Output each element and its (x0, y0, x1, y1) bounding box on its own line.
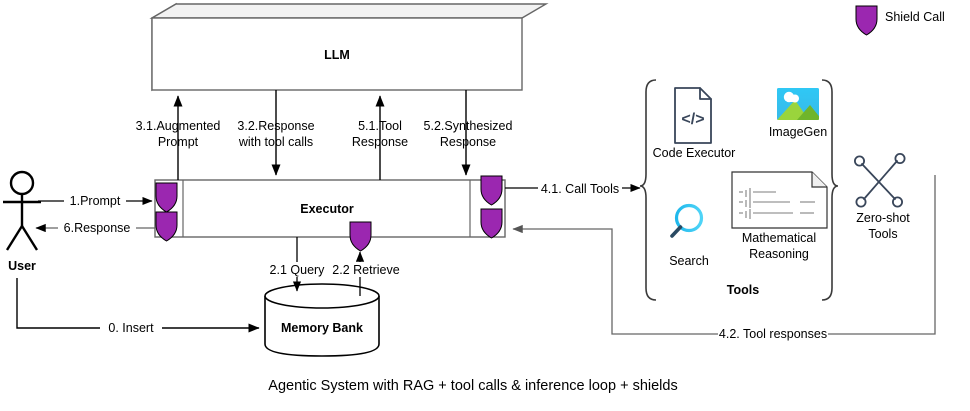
edge-label-prompt: 1.Prompt (70, 194, 121, 208)
tool-label-zero-shot-1: Zero-shot (856, 211, 910, 225)
tool-label-search: Search (669, 254, 709, 268)
edge-label-augmented-prompt-1: 3.1.Augmented (136, 119, 221, 133)
legend-label: Shield Call (885, 10, 945, 24)
diagram-caption: Agentic System with RAG + tool calls & i… (268, 378, 677, 394)
tool-search[interactable]: Search (669, 206, 709, 269)
llm-node[interactable]: LLM (152, 4, 546, 90)
edge-synthesized-response: 5.2.Synthesized Response (424, 90, 513, 175)
executor-node[interactable]: Executor (155, 180, 505, 237)
edge-label-response-tool-calls-1: 3.2.Response (237, 119, 314, 133)
diagram-canvas: LLM Executor Memory Bank User (0, 0, 970, 411)
edge-label-tool-response-2: Response (352, 135, 408, 149)
edge-label-response-tool-calls-2: with tool calls (238, 135, 313, 149)
llm-label: LLM (324, 48, 350, 62)
edge-tool-response: 5.1.Tool Response (352, 96, 408, 180)
edge-tool-responses: 4.2. Tool responses (513, 175, 935, 342)
executor-label: Executor (300, 202, 354, 216)
edge-insert: 0. Insert (17, 278, 259, 336)
tool-imagegen[interactable]: ImageGen (769, 88, 827, 139)
tool-label-zero-shot-2: Tools (868, 227, 897, 241)
edge-label-response: 6.Response (64, 221, 131, 235)
memory-bank-node[interactable]: Memory Bank (265, 284, 379, 356)
crossed-wrenches-icon (855, 154, 905, 207)
edge-label-synthesized-2: Response (440, 135, 496, 149)
tool-zero-shot-tools[interactable]: Zero-shot Tools (855, 154, 910, 241)
edge-label-tool-response-1: 5.1.Tool (358, 119, 402, 133)
edge-label-retrieve: 2.2 Retrieve (332, 263, 399, 277)
edge-query: 2.1 Query (268, 237, 326, 291)
edge-call-tools: 4.1. Call Tools (505, 181, 640, 196)
edge-augmented-prompt: 3.1.Augmented Prompt (136, 96, 221, 180)
tools-group-label: Tools (727, 283, 759, 297)
edge-response: 6.Response (36, 220, 155, 235)
legend-shield-call: Shield Call (856, 6, 945, 35)
edge-label-call-tools: 4.1. Call Tools (541, 182, 619, 196)
memory-bank-label: Memory Bank (281, 321, 363, 335)
edge-label-synthesized-1: 5.2.Synthesized (424, 119, 513, 133)
tool-label-math-reasoning-2: Reasoning (749, 247, 809, 261)
agentic-system-diagram: LLM Executor Memory Bank User (0, 0, 970, 411)
user-label: User (8, 259, 36, 273)
edge-response-with-tool-calls: 3.2.Response with tool calls (237, 90, 314, 175)
tool-code-executor[interactable]: </> Code Executor (653, 88, 736, 160)
tool-label-math-reasoning-1: Mathematical (742, 231, 816, 245)
edge-label-query: 2.1 Query (270, 263, 326, 277)
shield-icon-executor-memory (350, 222, 371, 251)
code-glyph-icon: </> (681, 111, 704, 128)
edge-label-insert: 0. Insert (108, 321, 154, 335)
tool-label-imagegen: ImageGen (769, 125, 827, 139)
tool-mathematical-reasoning[interactable]: Mathematical Reasoning (732, 172, 827, 261)
edge-label-tool-responses: 4.2. Tool responses (719, 327, 827, 341)
edge-label-augmented-prompt-2: Prompt (158, 135, 199, 149)
tools-group-brace-left (640, 80, 656, 300)
tool-label-code-executor: Code Executor (653, 146, 736, 160)
user-actor[interactable]: User (3, 172, 41, 273)
edge-prompt: 1.Prompt (38, 193, 152, 208)
